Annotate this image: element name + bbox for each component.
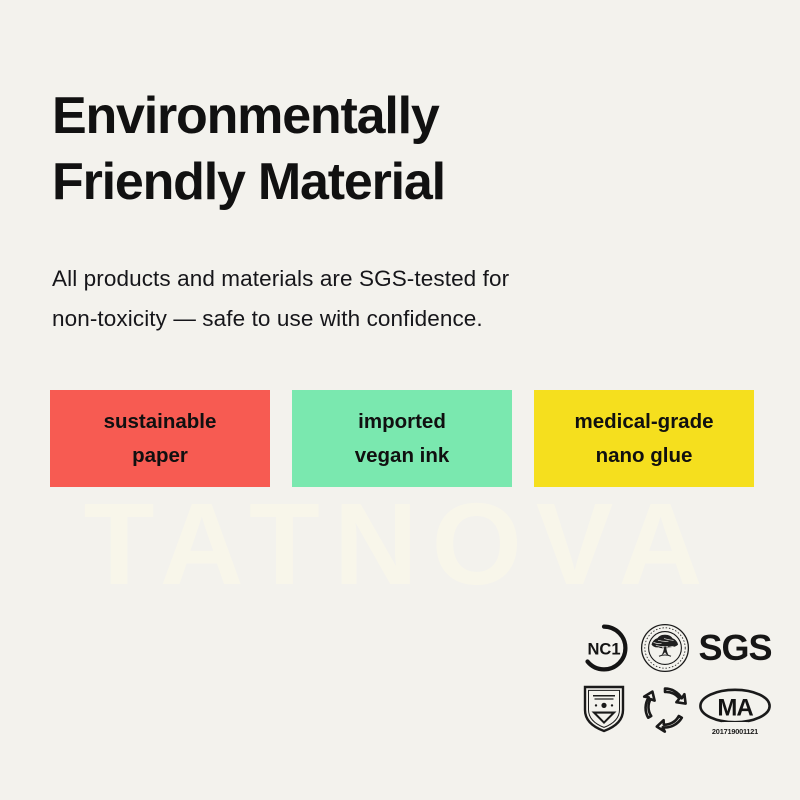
page-title-line-2: Friendly Material xyxy=(52,149,692,216)
material-badge-label-line-2: nano glue xyxy=(596,439,693,472)
certification-mark-group: NC1 SGS xyxy=(574,618,774,738)
material-badge-label-line-1: sustainable xyxy=(104,405,217,438)
cma-certification-icon: MA 201719001121 xyxy=(696,679,774,737)
brand-watermark: TATNOVA xyxy=(0,486,800,602)
nc1-certification-icon: NC1 xyxy=(574,620,634,676)
material-badge-imported-vegan-ink: imported vegan ink xyxy=(292,390,512,487)
page-title-line-1: Environmentally xyxy=(52,83,692,150)
page-title: Environmentally Friendly Material xyxy=(52,83,692,216)
page-description-line-1: All products and materials are SGS-teste… xyxy=(52,259,672,300)
svg-text:MA: MA xyxy=(717,695,753,722)
material-badge-label-line-1: imported xyxy=(358,405,446,438)
material-badge-label-line-2: paper xyxy=(132,439,188,472)
material-badge-row: sustainable paper imported vegan ink med… xyxy=(50,390,754,487)
certification-mark-row-1: NC1 SGS xyxy=(574,618,774,678)
svg-text:NC1: NC1 xyxy=(587,641,620,659)
shield-certification-icon xyxy=(574,679,634,737)
sgs-certification-icon: SGS xyxy=(696,620,774,676)
page-description-line-2: non-toxicity — safe to use with confiden… xyxy=(52,299,672,340)
material-badge-sustainable-paper: sustainable paper xyxy=(50,390,270,487)
poster-canvas: TATNOVA Environmentally Friendly Materia… xyxy=(0,0,800,800)
tree-seal-certification-icon xyxy=(634,620,696,676)
material-badge-medical-grade-nano-glue: medical-grade nano glue xyxy=(534,390,754,487)
certification-mark-row-2: MA 201719001121 xyxy=(574,678,774,738)
recycling-certification-icon xyxy=(634,679,696,737)
sgs-label: SGS xyxy=(698,630,771,666)
material-badge-label-line-1: medical-grade xyxy=(575,405,714,438)
page-description: All products and materials are SGS-teste… xyxy=(52,259,672,341)
cma-certificate-number: 201719001121 xyxy=(694,729,776,736)
material-badge-label-line-2: vegan ink xyxy=(355,439,450,472)
